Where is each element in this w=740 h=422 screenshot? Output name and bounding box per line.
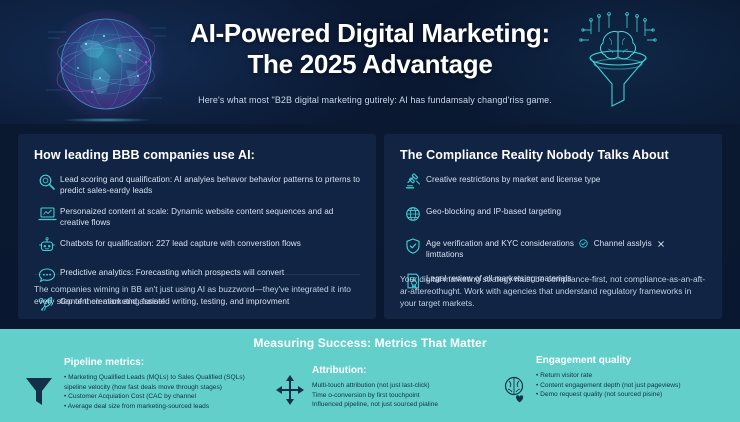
list-item-label: Personaized content at scale: Dynamic we… xyxy=(60,205,360,228)
globe-icon xyxy=(400,205,426,225)
funnel-icon xyxy=(24,375,54,409)
globe-glow xyxy=(46,10,166,120)
page-title: AI-Powered Digital Marketing: The 2025 A… xyxy=(160,18,580,80)
panel-left-note: The companies wiming in BB an't just usi… xyxy=(34,274,360,307)
list-item-label: Age verification and KYC considerations … xyxy=(426,237,668,260)
list-item: Age verification and KYC considerations … xyxy=(400,237,706,260)
globe-reflection xyxy=(64,118,150,122)
list-item-label: Chatbots for qualification: 227 lead cap… xyxy=(60,237,301,249)
list-item-label: Geo-blocking and IP-based targeting xyxy=(426,205,561,217)
list-item: Time o-conversion by first touchpoint xyxy=(312,391,512,401)
title-line-2: The 2025 Advantage xyxy=(160,48,580,80)
list-item: • Marketing Qualified Leads (MQLs) to Sa… xyxy=(64,373,279,383)
list-item: • Content engagement depth (not just pag… xyxy=(536,381,736,391)
shield-check-icon xyxy=(400,237,426,257)
magnifier-lead-icon xyxy=(34,173,60,193)
hero-banner: AI-Powered Digital Marketing: The 2025 A… xyxy=(0,0,740,124)
list-item-text-part-2: Channel asslyis xyxy=(594,239,652,248)
four-arrows-icon xyxy=(276,375,304,405)
panel-left-heading: How leading BBB companies use AI: xyxy=(34,148,360,162)
list-item: • Average deal size from marketing-sourc… xyxy=(64,402,279,412)
metrics-column-engagement: Engagement quality • Return visitor rate… xyxy=(536,355,736,400)
list-item: • Customer Acquiation Cost (CAC by chann… xyxy=(64,392,279,402)
list-item-text-part-3: limttations xyxy=(426,250,463,259)
title-line-1: AI-Powered Digital Marketing: xyxy=(160,18,580,48)
list-item: • Demo request quality (not sourced pisi… xyxy=(536,390,736,400)
brain-funnel-svg xyxy=(575,12,661,112)
panel-compliance-reality: The Compliance Reality Nobody Talks Abou… xyxy=(384,134,722,319)
metrics-column-pipeline: Pipeline metrics: • Marketing Qualified … xyxy=(64,357,279,411)
column-heading: Engagement quality xyxy=(536,355,736,366)
panel-right-note: Your digital marketing strategy must be … xyxy=(400,273,706,309)
list-item: Lead scoring and qualification: AI analy… xyxy=(34,173,360,196)
list-item: Geo-blocking and IP-based targeting xyxy=(400,205,706,225)
list-item-text-part-1: Age verification and KYC considerations xyxy=(426,239,574,248)
list-item: Personaized content at scale: Dynamic we… xyxy=(34,205,360,228)
robot-chatbot-icon xyxy=(34,237,60,257)
column-heading: Attribution: xyxy=(312,365,512,376)
list-item: Multi-touch attribution (not just last-c… xyxy=(312,381,512,391)
list-item: • Return visitor rate xyxy=(536,371,736,381)
check-circle-icon xyxy=(579,239,588,248)
panel-how-companies-use-ai: How leading BBB companies use AI: Lead s… xyxy=(18,134,376,319)
column-heading: Pipeline metrics: xyxy=(64,357,279,368)
x-icon xyxy=(657,240,665,248)
metrics-section: Measuring Success: Metrics That Matter P… xyxy=(0,329,740,422)
mid-section: How leading BBB companies use AI: Lead s… xyxy=(0,124,740,329)
panel-right-heading: The Compliance Reality Nobody Talks Abou… xyxy=(400,148,706,162)
list-item-label: Creative restrictions by market and lice… xyxy=(426,173,600,185)
list-item: Chatbots for qualification: 227 lead cap… xyxy=(34,237,360,257)
gavel-icon xyxy=(400,173,426,193)
list-item-label: Lead scoring and qualification: AI analy… xyxy=(60,173,360,196)
laptop-content-icon xyxy=(34,205,60,225)
metrics-heading: Measuring Success: Metrics That Matter xyxy=(0,336,740,350)
metrics-column-attribution: Attribution: Multi-touch attribution (no… xyxy=(312,365,512,410)
list-item: sipeline velocity (how fast deals move t… xyxy=(64,383,279,393)
list-item: Creative restrictions by market and lice… xyxy=(400,173,706,193)
brain-funnel-icon xyxy=(575,12,661,112)
digital-globe-network-icon xyxy=(42,6,170,124)
list-item: Influenced pipeline, not just sourced pi… xyxy=(312,400,512,410)
hero-subtitle: Here's what most "B2B digital marketing … xyxy=(150,94,600,106)
